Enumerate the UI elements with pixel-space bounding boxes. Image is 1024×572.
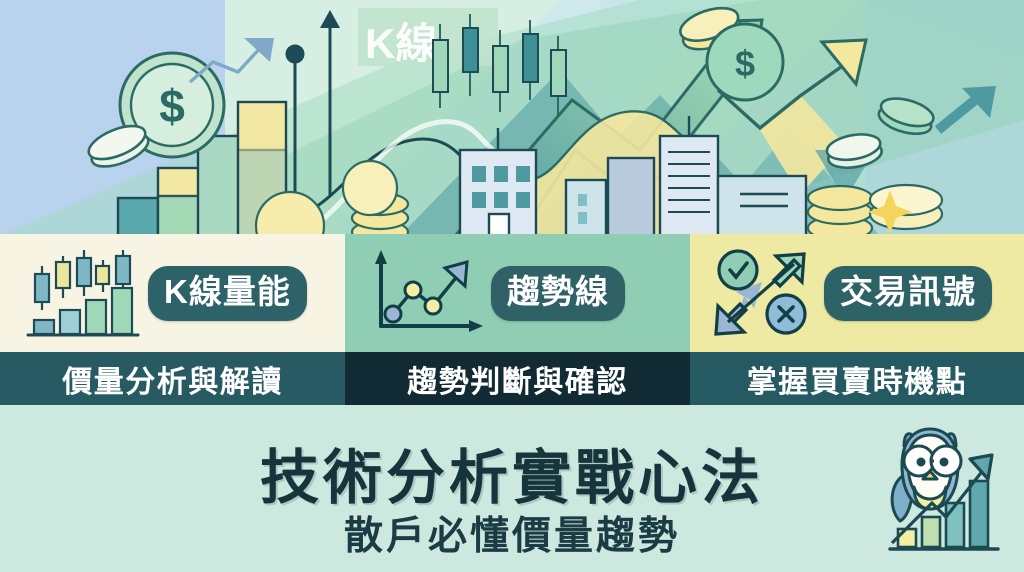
caption-kline-volume: 價量分析與解讀	[0, 352, 345, 405]
pill-trend-line[interactable]: 趨勢線	[491, 266, 625, 322]
panel-kline-volume[interactable]: K線量能	[0, 234, 345, 353]
panel-trend-line[interactable]: 趨勢線	[345, 234, 690, 353]
caption-band: 價量分析與解讀 趨勢判斷與確認 掌握買賣時機點	[0, 352, 1024, 405]
panel-trade-signal[interactable]: 交易訊號	[690, 234, 1024, 353]
dollar-symbol-left: $	[159, 80, 185, 132]
candlestick-bar-chart-icon	[22, 248, 142, 340]
line-chart-trend-icon	[367, 248, 487, 340]
hero-illustration: K線	[0, 0, 1024, 236]
caption-trade-signal: 掌握買賣時機點	[690, 352, 1024, 405]
hero-watermark-text: K線	[365, 20, 437, 67]
poster-root: K線	[0, 0, 1024, 572]
dollar-symbol-right: $	[735, 43, 755, 84]
owl-growth-chart-mascot	[860, 417, 1006, 559]
title-section: 技術分析實戰心法 散戶必懂價量趨勢	[0, 405, 1024, 572]
buy-sell-signal-arrows-icon	[710, 248, 822, 340]
pill-trade-signal[interactable]: 交易訊號	[824, 266, 992, 322]
caption-trend-line: 趨勢判斷與確認	[345, 352, 690, 405]
pill-kline-volume[interactable]: K線量能	[148, 266, 307, 322]
feature-panels: K線量能	[0, 234, 1024, 353]
